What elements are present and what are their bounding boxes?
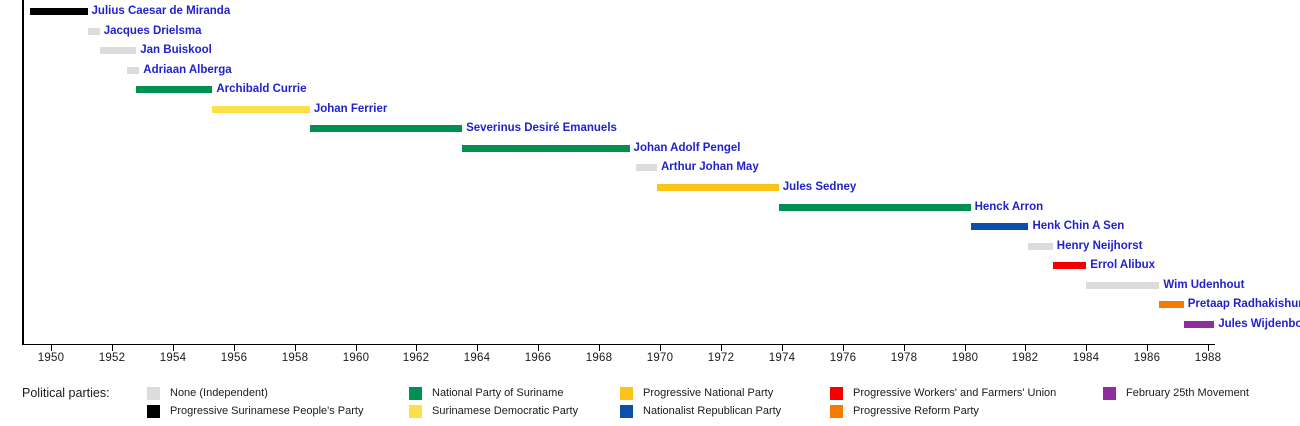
legend-swatch <box>409 387 422 400</box>
x-tick-label: 1952 <box>99 352 125 364</box>
x-tick-mark <box>904 345 905 351</box>
x-tick-label: 1968 <box>586 352 612 364</box>
x-tick-label: 1950 <box>38 352 64 364</box>
x-tick-mark <box>234 345 235 351</box>
timeline-bar-label: Jules Wijdenbosch <box>1218 317 1300 331</box>
x-tick-mark <box>965 345 966 351</box>
legend-swatch <box>830 405 843 418</box>
timeline-bar-label: Jan Buiskool <box>140 43 212 57</box>
timeline-bar-label: Adriaan Alberga <box>143 63 231 77</box>
legend-swatch <box>147 405 160 418</box>
x-tick-mark <box>51 345 52 351</box>
timeline-bar-label: Johan Ferrier <box>314 102 388 116</box>
timeline-bar[interactable] <box>1159 301 1183 308</box>
x-axis-line <box>22 344 1215 345</box>
timeline-row[interactable]: Pretaap Radhakishun <box>0 297 1300 311</box>
timeline-row[interactable]: Adriaan Alberga <box>0 63 1300 77</box>
x-tick-label: 1962 <box>403 352 429 364</box>
timeline-row[interactable]: Henck Arron <box>0 200 1300 214</box>
x-tick-mark <box>721 345 722 351</box>
timeline-bar[interactable] <box>310 125 462 132</box>
legend-label: Progressive Surinamese People's Party <box>170 403 363 420</box>
x-tick-label: 1980 <box>952 352 978 364</box>
x-tick-mark <box>477 345 478 351</box>
timeline-bar[interactable] <box>1028 243 1052 250</box>
timeline-bar-label: Jules Sedney <box>783 180 857 194</box>
legend-swatch <box>147 387 160 400</box>
legend-label: Nationalist Republican Party <box>643 403 781 420</box>
legend-swatch <box>1103 387 1116 400</box>
timeline-bar[interactable] <box>971 223 1029 230</box>
timeline-bar[interactable] <box>212 106 309 113</box>
x-tick-label: 1958 <box>282 352 308 364</box>
legend-title: Political parties: <box>22 386 110 400</box>
timeline-bar-label: Archibald Currie <box>216 82 306 96</box>
legend-label: Progressive Workers' and Farmers' Union <box>853 385 1056 402</box>
x-tick-label: 1976 <box>830 352 856 364</box>
timeline-bar-label: Henck Arron <box>975 200 1044 214</box>
timeline-row[interactable]: Jan Buiskool <box>0 43 1300 57</box>
x-tick-mark <box>112 345 113 351</box>
timeline-bar[interactable] <box>88 28 100 35</box>
x-tick-mark <box>173 345 174 351</box>
timeline-bar[interactable] <box>462 145 629 152</box>
timeline-row[interactable]: Julius Caesar de Miranda <box>0 4 1300 18</box>
x-tick-label: 1972 <box>708 352 734 364</box>
timeline-bar[interactable] <box>1184 321 1214 328</box>
timeline-row[interactable]: Wim Udenhout <box>0 278 1300 292</box>
timeline-bar-label: Wim Udenhout <box>1163 278 1244 292</box>
x-tick-label: 1982 <box>1012 352 1038 364</box>
x-tick-mark <box>599 345 600 351</box>
x-tick-mark <box>295 345 296 351</box>
timeline-row[interactable]: Severinus Desiré Emanuels <box>0 121 1300 135</box>
timeline-row[interactable]: Archibald Currie <box>0 82 1300 96</box>
timeline-row[interactable]: Errol Alibux <box>0 258 1300 272</box>
timeline-bar[interactable] <box>30 8 88 15</box>
timeline-bar-label: Errol Alibux <box>1090 258 1155 272</box>
x-tick-label: 1988 <box>1195 352 1221 364</box>
x-tick-label: 1956 <box>221 352 247 364</box>
timeline-bar[interactable] <box>127 67 139 74</box>
timeline-bar[interactable] <box>779 204 971 211</box>
timeline-chart: 1950195219541956195819601962196419661968… <box>0 0 1300 376</box>
timeline-row[interactable]: Johan Adolf Pengel <box>0 141 1300 155</box>
x-tick-mark <box>1086 345 1087 351</box>
x-tick-label: 1954 <box>160 352 186 364</box>
timeline-bar[interactable] <box>1086 282 1159 289</box>
legend: Political parties: None (Independent)Pro… <box>0 382 1300 426</box>
x-tick-label: 1986 <box>1134 352 1160 364</box>
legend-label: None (Independent) <box>170 385 268 402</box>
timeline-bar-label: Jacques Drielsma <box>104 24 202 38</box>
legend-swatch <box>830 387 843 400</box>
timeline-bar[interactable] <box>100 47 137 54</box>
timeline-row[interactable]: Henk Chin A Sen <box>0 219 1300 233</box>
x-tick-mark <box>843 345 844 351</box>
timeline-bar-label: Pretaap Radhakishun <box>1188 297 1300 311</box>
x-tick-label: 1974 <box>769 352 795 364</box>
x-tick-mark <box>782 345 783 351</box>
timeline-row[interactable]: Arthur Johan May <box>0 160 1300 174</box>
timeline-row[interactable]: Johan Ferrier <box>0 102 1300 116</box>
timeline-bar-label: Arthur Johan May <box>661 160 759 174</box>
legend-swatch <box>409 405 422 418</box>
timeline-row[interactable]: Jules Sedney <box>0 180 1300 194</box>
legend-swatch <box>620 387 633 400</box>
x-tick-label: 1964 <box>464 352 490 364</box>
x-tick-label: 1970 <box>647 352 673 364</box>
legend-swatch <box>620 405 633 418</box>
timeline-bar-label: Henry Neijhorst <box>1057 239 1143 253</box>
timeline-bar[interactable] <box>636 164 657 171</box>
timeline-bar-label: Severinus Desiré Emanuels <box>466 121 617 135</box>
timeline-bar[interactable] <box>1053 262 1086 269</box>
timeline-bar[interactable] <box>136 86 212 93</box>
legend-label: February 25th Movement <box>1126 385 1249 402</box>
timeline-bar[interactable] <box>657 184 779 191</box>
x-tick-label: 1984 <box>1073 352 1099 364</box>
x-tick-mark <box>356 345 357 351</box>
timeline-row[interactable]: Jacques Drielsma <box>0 24 1300 38</box>
legend-label: Progressive Reform Party <box>853 403 979 420</box>
timeline-bar-label: Johan Adolf Pengel <box>634 141 741 155</box>
x-tick-mark <box>660 345 661 351</box>
x-tick-label: 1978 <box>891 352 917 364</box>
timeline-bar-label: Henk Chin A Sen <box>1032 219 1124 233</box>
x-tick-mark <box>1208 345 1209 351</box>
x-tick-label: 1966 <box>525 352 551 364</box>
x-tick-mark <box>1025 345 1026 351</box>
x-tick-label: 1960 <box>343 352 369 364</box>
timeline-row[interactable]: Henry Neijhorst <box>0 239 1300 253</box>
timeline-bar-label: Julius Caesar de Miranda <box>92 4 231 18</box>
x-tick-mark <box>1147 345 1148 351</box>
x-tick-mark <box>538 345 539 351</box>
timeline-row[interactable]: Jules Wijdenbosch <box>0 317 1300 331</box>
legend-label: Progressive National Party <box>643 385 773 402</box>
legend-label: Surinamese Democratic Party <box>432 403 578 420</box>
legend-label: National Party of Suriname <box>432 385 563 402</box>
x-tick-mark <box>416 345 417 351</box>
